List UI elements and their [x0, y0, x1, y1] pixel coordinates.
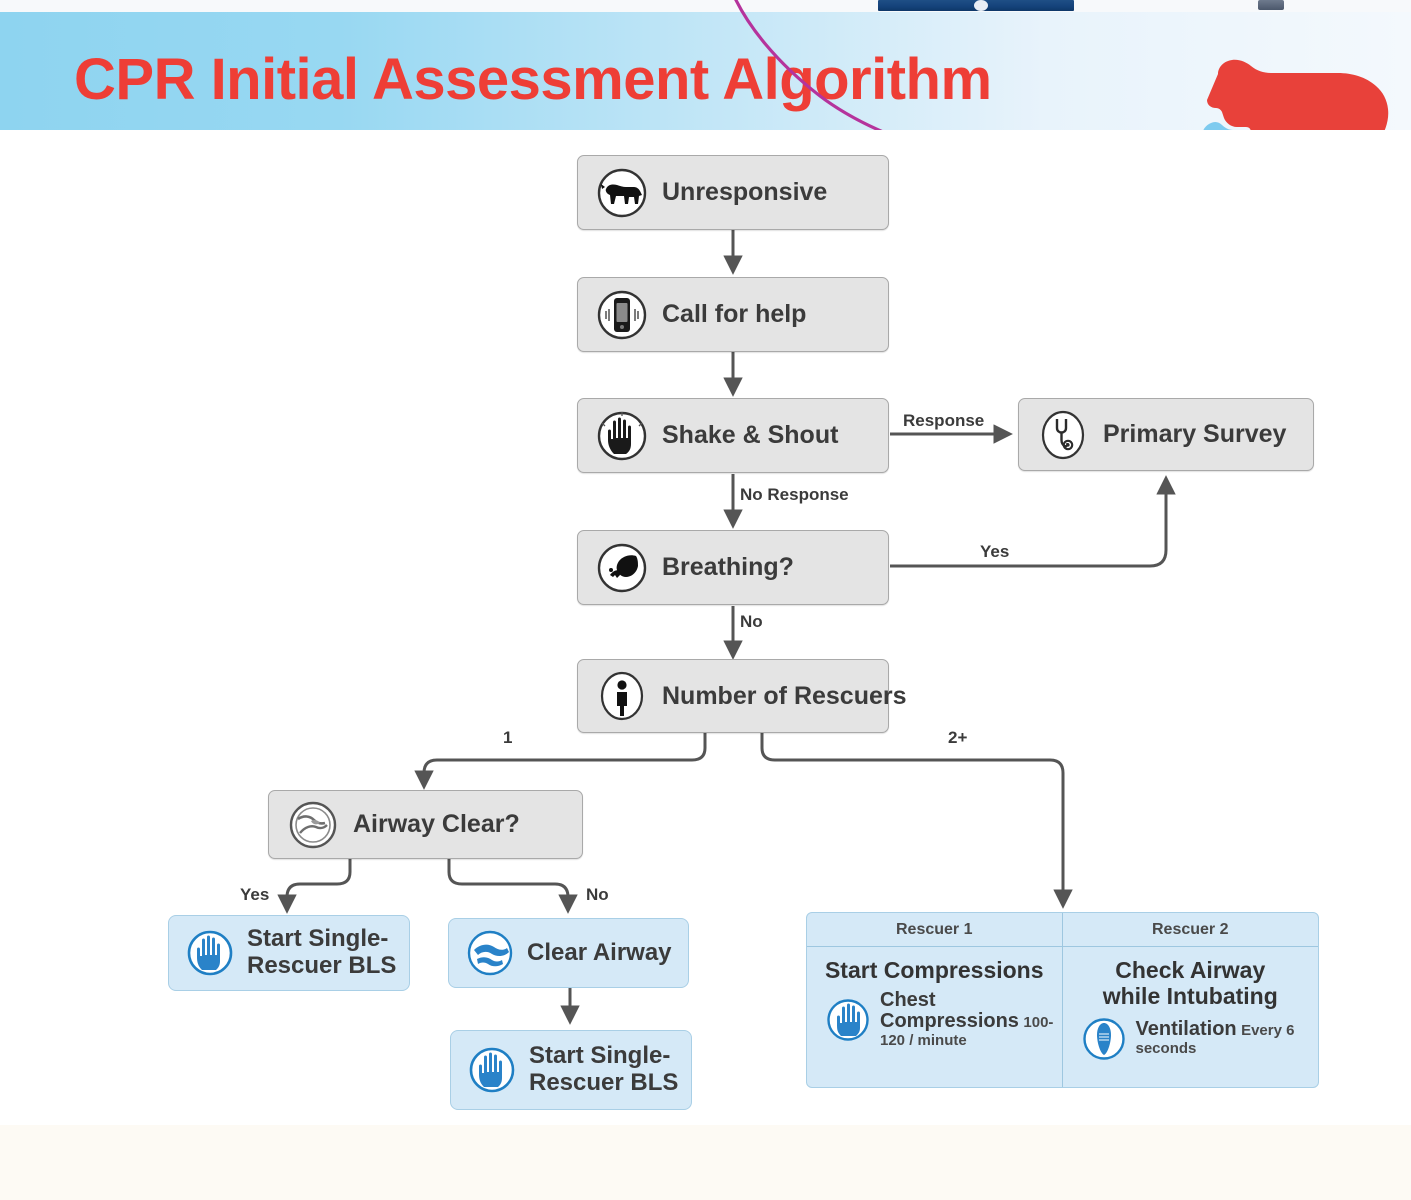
rescuer-2-detail: Ventilation Every 6 seconds [1063, 1016, 1319, 1062]
node-label: Number of Rescuers [662, 682, 907, 711]
blue-hand-icon [467, 1045, 517, 1095]
rescuer-1-column: Start Compressions Chest Compressions 10… [807, 947, 1063, 1087]
airway-clear-icon [465, 928, 515, 978]
rescuer-1-detail-line1: Chest [880, 989, 936, 1011]
app-toolbar-fragment[interactable] [878, 0, 1074, 11]
node-label: Breathing? [662, 553, 794, 582]
dog-head-icon [596, 542, 648, 594]
node-start-single-rescuer-bls-yes[interactable]: Start Single- Rescuer BLS [168, 915, 410, 991]
edge-label-airway-yes: Yes [240, 885, 269, 905]
rescuer-panel[interactable]: Rescuer 1 Rescuer 2 Start Compressions C… [806, 912, 1319, 1088]
node-label: Primary Survey [1103, 420, 1286, 449]
node-label: Start Single- Rescuer BLS [529, 1043, 678, 1097]
rescuer-2-detail-line1: Ventilation [1136, 1018, 1237, 1040]
rescuer-2-detail-text: Ventilation Every 6 seconds [1136, 1019, 1319, 1058]
node-primary-survey[interactable]: Primary Survey [1018, 398, 1314, 471]
node-shake-and-shout[interactable]: Shake & Shout [577, 398, 889, 473]
node-airway-clear[interactable]: Airway Clear? [268, 790, 583, 859]
toolbar-divider-icon [974, 0, 988, 11]
page-title: CPR Initial Assessment Algorithm [74, 46, 992, 113]
rescuer-2-column: Check Airway while Intubating Ventilatio… [1063, 947, 1319, 1087]
page-bottom-band [0, 1125, 1411, 1200]
node-label: Start Single- Rescuer BLS [247, 926, 396, 980]
edge-label-rescuers-2: 2+ [948, 728, 967, 748]
node-label-line2: Rescuer BLS [529, 1069, 678, 1096]
rescuer-2-header: Rescuer 2 [1063, 913, 1319, 947]
node-label-line2: Rescuer BLS [247, 952, 396, 979]
dog-standing-icon [596, 167, 648, 219]
rescuer-1-header: Rescuer 1 [807, 913, 1063, 947]
node-label: Clear Airway [527, 940, 672, 967]
edge-label-rescuers-1: 1 [503, 728, 512, 748]
node-clear-airway[interactable]: Clear Airway [448, 918, 689, 988]
node-start-single-rescuer-bls-no[interactable]: Start Single- Rescuer BLS [450, 1030, 692, 1110]
rescuer-2-title-line1: Check Airway [1115, 957, 1265, 983]
node-label-line1: Start Single- [529, 1042, 670, 1069]
blue-hand-icon [185, 928, 235, 978]
toolbar-right-icon[interactable] [1258, 0, 1284, 10]
edge-label-response: Response [903, 411, 984, 431]
node-breathing[interactable]: Breathing? [577, 530, 889, 605]
node-label-line1: Start Single- [247, 925, 388, 952]
rescuer-1-detail: Chest Compressions 100-120 / minute [807, 990, 1062, 1050]
stethoscope-icon [1037, 409, 1089, 461]
person-icon [596, 670, 648, 722]
rescuer-2-title: Check Airway while Intubating [1063, 958, 1319, 1010]
edge-label-no-response: No Response [740, 485, 849, 505]
node-unresponsive[interactable]: Unresponsive [577, 155, 889, 230]
node-label: Call for help [662, 300, 806, 329]
node-label: Shake & Shout [662, 421, 838, 450]
node-call-for-help[interactable]: Call for help [577, 277, 889, 352]
app-chrome-strip [0, 0, 1411, 12]
edge-label-airway-no: No [586, 885, 609, 905]
node-label: Airway Clear? [353, 810, 520, 839]
edge-label-breathing-yes: Yes [980, 542, 1009, 562]
rescuer-2-title-line2: while Intubating [1103, 983, 1278, 1009]
airway-anatomy-icon [287, 799, 339, 851]
rescuer-1-detail-text: Chest Compressions 100-120 / minute [880, 990, 1062, 1050]
edge-label-breathing-no: No [740, 612, 763, 632]
node-label: Unresponsive [662, 178, 827, 207]
rescuer-1-detail-line2: Compressions [880, 1010, 1019, 1032]
blue-hand-icon [825, 997, 871, 1043]
open-hand-icon [596, 410, 648, 462]
node-number-of-rescuers[interactable]: Number of Rescuers [577, 659, 889, 733]
rescuer-1-title: Start Compressions [807, 958, 1062, 984]
ambu-bag-icon [1081, 1016, 1127, 1062]
mobile-phone-icon [596, 289, 648, 341]
